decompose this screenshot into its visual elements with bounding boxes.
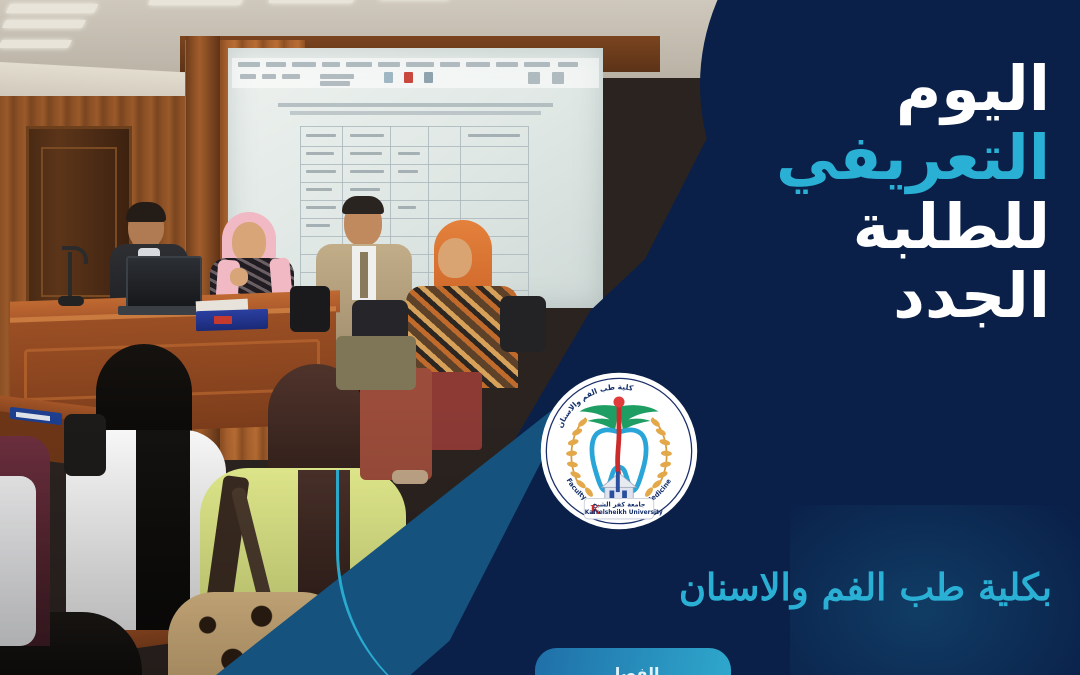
subtitle: بكلية طب الفم والاسنان	[432, 565, 1052, 609]
headline-line-1: اليوم	[580, 56, 1050, 121]
svg-text:جامعة كفر الشيخ: جامعة كفر الشيخ	[593, 501, 646, 508]
headline-line-2: التعريفي	[580, 125, 1050, 190]
bottom-badge-label: الفصل	[606, 664, 659, 675]
faculty-logo: كلية طب الفم والاسنان Faculty of Oral & …	[540, 372, 698, 530]
poster-root: اليوم التعريفي للطلبة الجدد كلية طب الفم…	[0, 0, 1080, 675]
headline-line-4: الجدد	[580, 263, 1050, 328]
bottom-badge[interactable]: الفصل	[535, 648, 731, 675]
headline-line-3: للطلبة	[580, 194, 1050, 259]
headline: اليوم التعريفي للطلبة الجدد	[580, 56, 1050, 328]
svg-text:Kafrelsheikh University: Kafrelsheikh University	[585, 510, 663, 516]
